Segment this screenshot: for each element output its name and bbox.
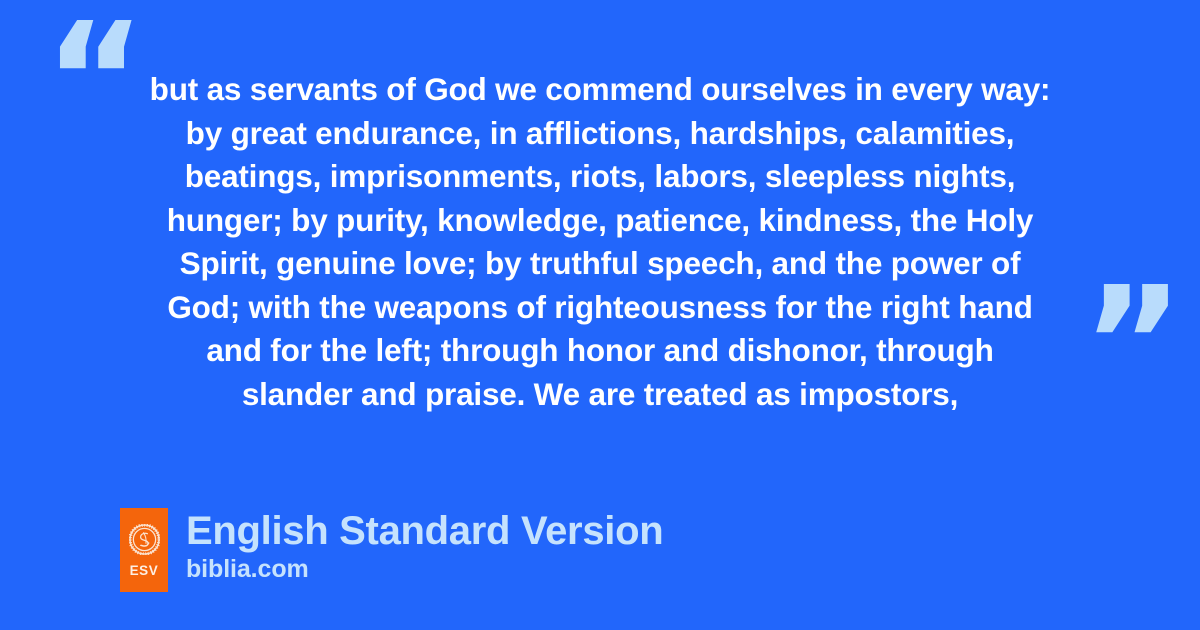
verse-text: but as servants of God we commend oursel… (110, 68, 1090, 416)
closing-quote-icon: ” (1082, 266, 1184, 421)
esv-seal-icon (129, 524, 160, 555)
esv-logo: ESV (120, 508, 168, 592)
verse-line: and for the left; through honor and dish… (110, 329, 1090, 373)
bible-version-name: English Standard Version (186, 508, 663, 554)
verse-line: God; with the weapons of righteousness f… (110, 286, 1090, 330)
verse-line: slander and praise. We are treated as im… (110, 373, 1090, 417)
attribution: ESV English Standard Version biblia.com (120, 508, 663, 592)
verse-line: by great endurance, in afflictions, hard… (110, 112, 1090, 156)
verse-line: beatings, imprisonments, riots, labors, … (110, 155, 1090, 199)
verse-line: Spirit, genuine love; by truthful speech… (110, 242, 1090, 286)
esv-abbreviation: ESV (130, 564, 159, 578)
attribution-text-group: English Standard Version biblia.com (186, 508, 663, 584)
site-url[interactable]: biblia.com (186, 554, 663, 584)
verse-line: hunger; by purity, knowledge, patience, … (110, 199, 1090, 243)
quote-card: “ ” but as servants of God we commend ou… (0, 0, 1200, 630)
verse-line: but as servants of God we commend oursel… (110, 68, 1090, 112)
